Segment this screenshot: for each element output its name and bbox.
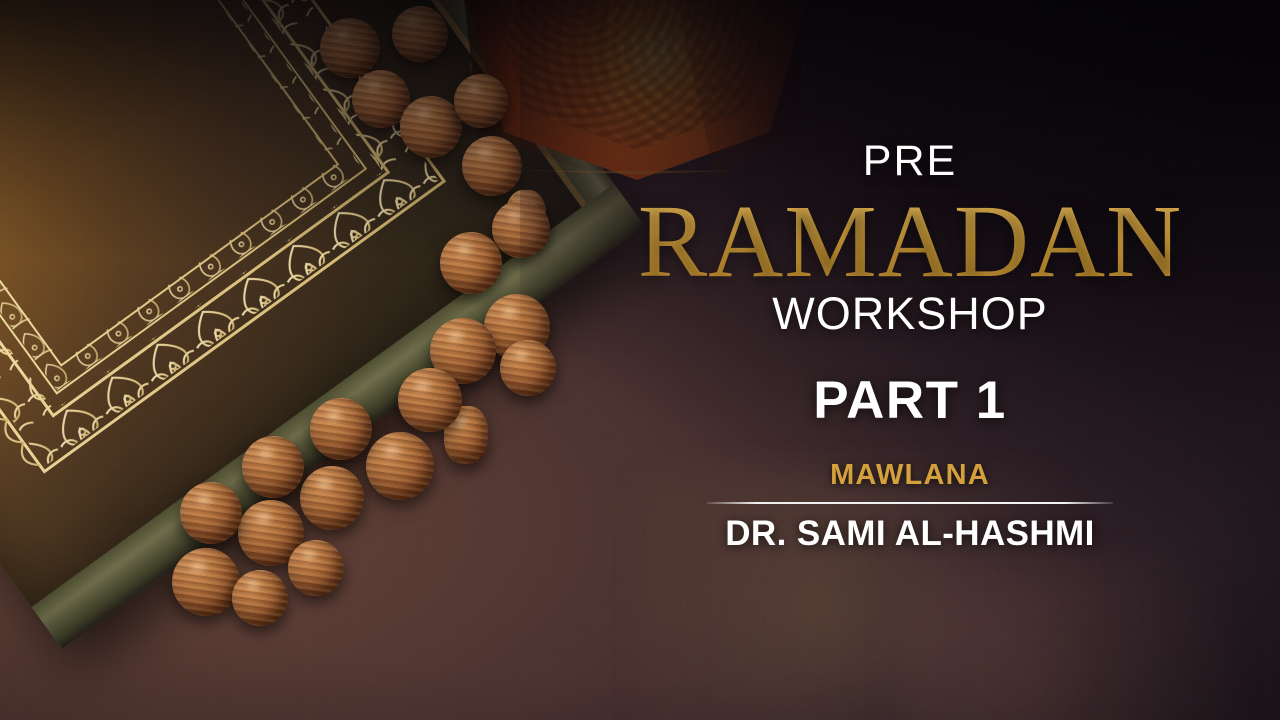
ramadan-workshop-slide: PRE RAMADAN WORKSHOP PART 1 MAWLANA DR. … xyxy=(0,0,1280,720)
bead xyxy=(172,548,240,616)
bead xyxy=(300,466,364,530)
bead xyxy=(180,482,242,544)
speaker-name: DR. SAMI AL-HASHMI xyxy=(560,516,1260,551)
page-title: RAMADAN xyxy=(560,189,1260,295)
kicker-pre: PRE xyxy=(560,140,1260,183)
speaker-honorific: MAWLANA xyxy=(560,461,1260,490)
part-label: PART 1 xyxy=(560,374,1260,427)
title-block: PRE RAMADAN WORKSHOP PART 1 MAWLANA DR. … xyxy=(560,140,1260,551)
bead xyxy=(242,436,304,498)
bead xyxy=(398,368,462,432)
warm-bloom-lower-right xyxy=(900,560,1280,720)
bead xyxy=(232,570,288,626)
bead xyxy=(288,540,344,596)
bead xyxy=(366,432,434,500)
speaker-divider xyxy=(707,502,1113,504)
bead xyxy=(310,398,372,460)
